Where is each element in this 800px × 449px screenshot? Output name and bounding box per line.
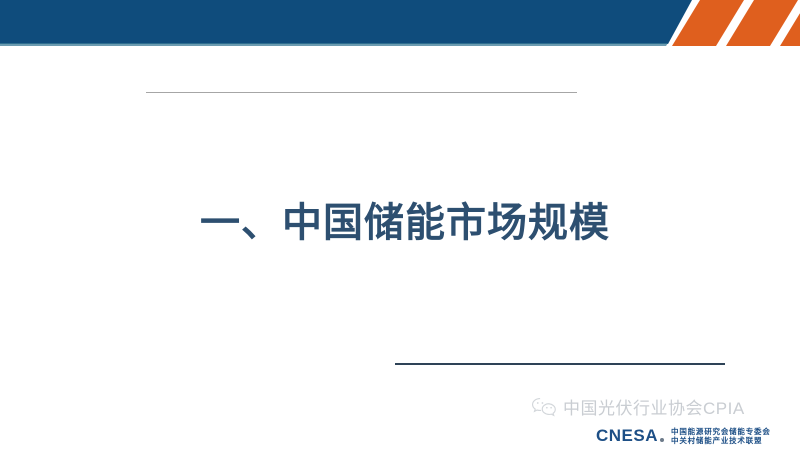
- cnesa-subtitle-line-2: 中关村储能产业技术联盟: [671, 436, 771, 445]
- header-orange-stripe-2: [726, 0, 798, 46]
- header-banner: [0, 0, 800, 46]
- cnesa-logo: CNESA 中国能源研究会储能专委会 中关村储能产业技术联盟: [596, 426, 771, 445]
- wechat-watermark-label: 中国光伏行业协会CPIA: [563, 394, 745, 419]
- cnesa-dot-mark: [660, 438, 664, 442]
- cnesa-wordmark: CNESA: [596, 426, 658, 445]
- wechat-icon: [531, 396, 557, 418]
- page-title: 一、中国储能市场规模: [200, 196, 610, 250]
- divider-top: [146, 92, 577, 93]
- header-orange-stripe-3: [780, 0, 800, 46]
- wechat-watermark: 中国光伏行业协会CPIA: [531, 394, 745, 419]
- cnesa-subtitle: 中国能源研究会储能专委会 中关村储能产业技术联盟: [671, 427, 771, 445]
- header-band-edge: [0, 43, 668, 46]
- header-orange-stripe-1: [672, 0, 744, 46]
- cnesa-subtitle-line-1: 中国能源研究会储能专委会: [671, 427, 771, 436]
- presentation-slide: 一、中国储能市场规模 中国光伏行业协会CPIA CNESA 中国能源研究会储能专…: [0, 0, 800, 449]
- divider-bottom: [395, 363, 725, 365]
- header-blue-band: [0, 0, 692, 44]
